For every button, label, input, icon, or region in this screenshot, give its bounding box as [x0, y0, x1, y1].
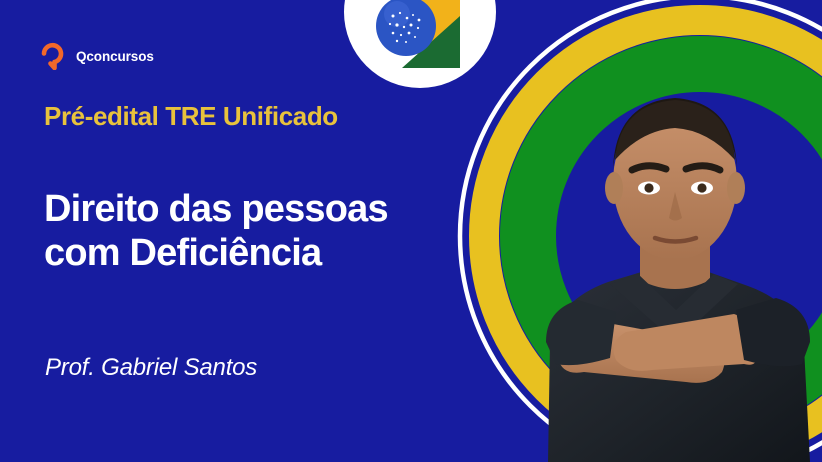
brand-logo[interactable]: Qconcursos [41, 42, 154, 70]
course-eyebrow-label: Pré-edital TRE Unificado [44, 101, 338, 132]
presenter-photo [498, 42, 822, 462]
presenter-ear-left [605, 172, 623, 204]
lesson-title-line-1: Direito das pessoas [44, 187, 388, 231]
presenter-sleeve-right [736, 298, 810, 366]
brazil-government-emblem-icon [366, 0, 476, 80]
qconcursos-q-logo-icon [41, 42, 67, 70]
presenter-sleeve-left [546, 300, 616, 365]
brand-wordmark: Qconcursos [76, 49, 154, 64]
presenter-ear-right [727, 172, 745, 204]
lesson-title-line-2: com Deficiência [44, 231, 388, 275]
presenter-name-label: Prof. Gabriel Santos [45, 354, 257, 382]
emblem-sphere-highlight [384, 1, 410, 27]
lesson-title-slide: Qconcursos Pré-edital TRE Unificado Dire… [0, 0, 822, 462]
lesson-title: Direito das pessoas com Deficiência [44, 187, 388, 276]
